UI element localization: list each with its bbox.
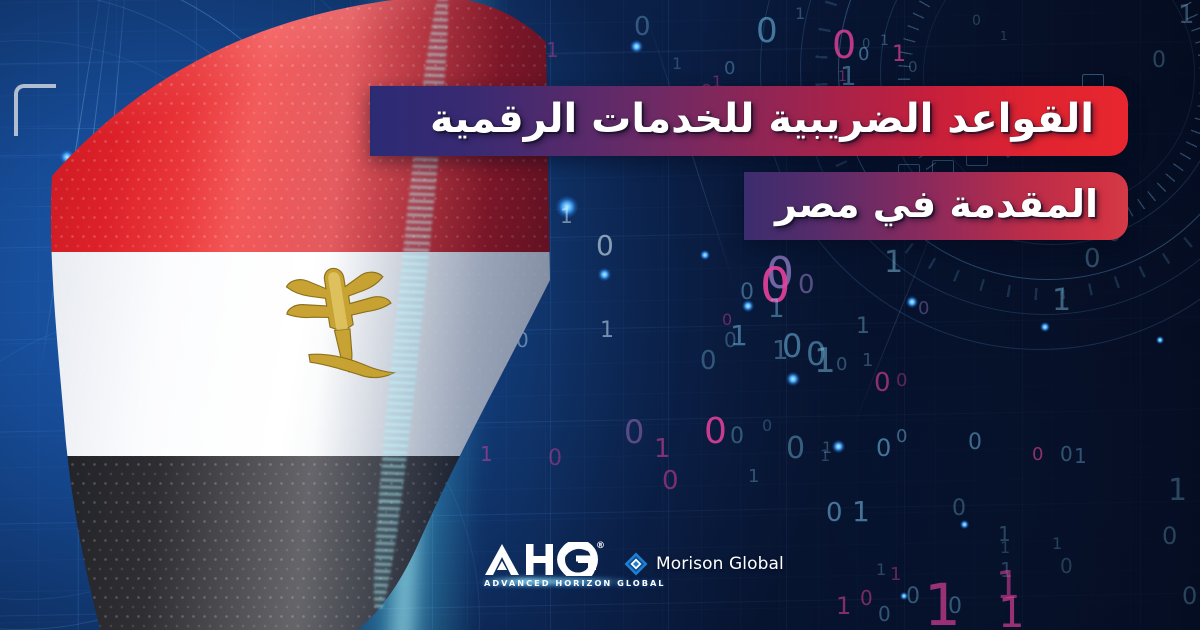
- binary-digit: 1: [880, 34, 889, 48]
- binary-digit: 1: [838, 70, 847, 84]
- binary-digit: 0: [908, 60, 918, 75]
- binary-digit: 1: [768, 296, 785, 322]
- binary-digit: 0: [826, 500, 843, 526]
- binary-digit: 0: [662, 468, 679, 494]
- binary-digit: 0: [918, 300, 929, 318]
- headline-bar-secondary: المقدمة في مصر: [744, 172, 1128, 240]
- binary-digit: 0: [860, 588, 873, 608]
- binary-digit: 1: [814, 344, 836, 378]
- ahg-tagline: ADVANCED HORIZON GLOBAL: [484, 578, 610, 588]
- binary-digit: 1: [1000, 30, 1008, 42]
- binary-digit: 1: [836, 594, 851, 618]
- binary-digit: 0: [878, 604, 891, 624]
- ahg-wordmark-icon: [484, 542, 610, 576]
- binary-digit: 0: [1060, 556, 1073, 576]
- binary-digit: 1: [748, 468, 759, 486]
- binary-digit: 0: [832, 26, 856, 64]
- binary-digit: 0: [1060, 444, 1073, 464]
- binary-digit: 0: [724, 60, 735, 78]
- binary-digit: 1: [1052, 286, 1071, 316]
- binary-digit: 1: [772, 338, 789, 364]
- binary-digit: 0: [740, 282, 754, 304]
- binary-digit: 1: [884, 248, 903, 278]
- binary-digit: 0: [836, 356, 847, 374]
- binary-digit: 1: [1000, 540, 1010, 556]
- morison-global-logo[interactable]: Morison Global: [624, 552, 784, 576]
- headline-text-line-1: القواعد الضريبية للخدمات الرقمية: [430, 96, 1094, 142]
- binary-digit: 0: [874, 370, 891, 396]
- binary-digit: 0: [876, 436, 891, 460]
- binary-digit: 1: [862, 352, 873, 370]
- binary-digit: 0: [1152, 50, 1166, 72]
- binary-digit: 0: [700, 348, 717, 374]
- ahg-logo[interactable]: ® ADVANCED HORIZON GLOBAL: [484, 542, 610, 588]
- banner-canvas: 0101001110011001000100101000111001000100…: [0, 0, 1200, 630]
- binary-digit: 1: [1168, 476, 1187, 506]
- binary-digit: 1: [1052, 536, 1062, 552]
- binary-digit: 1: [876, 562, 886, 578]
- binary-digit: 0: [756, 14, 778, 48]
- headline-text-line-2: المقدمة في مصر: [775, 182, 1098, 226]
- binary-digit: 0: [906, 586, 920, 608]
- binary-digit: 1: [672, 56, 682, 72]
- binary-digit: 0: [786, 434, 805, 464]
- binary-digit: 1: [1178, 2, 1195, 28]
- binary-digit: 0: [798, 272, 815, 298]
- morison-diamond-icon: [624, 552, 648, 576]
- binary-digit: 1: [890, 566, 901, 584]
- binary-digit: 1: [820, 448, 830, 464]
- binary-digit: 0: [858, 46, 869, 64]
- binary-digit: 0: [1162, 524, 1177, 548]
- binary-digit: 0: [762, 418, 772, 434]
- binary-digit: 0: [952, 498, 966, 520]
- binary-digit: 0: [1032, 446, 1043, 464]
- binary-digit: 0: [896, 428, 907, 446]
- binary-digit: 0: [704, 414, 727, 450]
- binary-digit: 0: [968, 432, 982, 454]
- binary-digit: 1: [1074, 446, 1087, 466]
- binary-digit: 1: [998, 592, 1025, 630]
- binary-digit: 0: [896, 372, 907, 390]
- eagle-of-saladin-icon: [273, 257, 409, 388]
- registered-trademark-icon: ®: [596, 541, 605, 551]
- binary-digit: 0: [1182, 584, 1197, 608]
- binary-digit: 0: [1084, 246, 1101, 272]
- headline-bar-primary: القواعد الضريبية للخدمات الرقمية: [370, 86, 1128, 156]
- binary-digit: 0: [730, 426, 744, 448]
- binary-digit: 1: [654, 436, 671, 462]
- binary-digit: 1: [852, 498, 870, 526]
- binary-digit: 0: [724, 330, 737, 350]
- binary-digit: 0: [634, 14, 651, 40]
- binary-digit: 1: [856, 316, 870, 338]
- binary-digit: 0: [972, 14, 981, 28]
- binary-digit: 0: [948, 596, 962, 618]
- morison-global-text: Morison Global: [656, 554, 784, 574]
- binary-digit: 1: [795, 6, 805, 22]
- logo-lockup[interactable]: ® ADVANCED HORIZON GLOBAL Morison Global: [484, 542, 784, 588]
- binary-digit: 1: [892, 44, 906, 66]
